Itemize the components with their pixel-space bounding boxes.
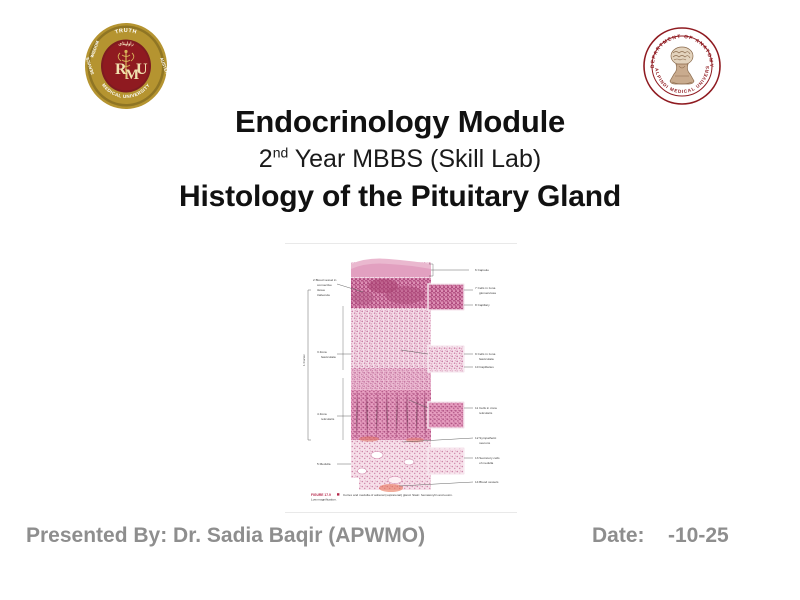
- presentation-slide: TRUTH MEDICAL UNIVERSITY WISDOM AUSTERIT…: [0, 0, 800, 600]
- figure-label-11b: reticularis: [479, 411, 493, 415]
- subtitle-ordinal-suffix: nd: [273, 144, 289, 160]
- figure-label-14: 14 Blood vessels: [475, 480, 499, 484]
- figure-caption-text-line1: Cortex and medulla of adrenal (suprarena…: [343, 493, 453, 497]
- subtitle-year-course: 2nd Year MBBS (Skill Lab): [0, 143, 800, 176]
- figure-label-13b: of medulla: [479, 461, 494, 465]
- figure-label-11: 11 Cells in zona: [475, 406, 497, 410]
- figure-label-2c: tissue: [317, 288, 325, 292]
- figure-label-7b: glomerulosa: [479, 291, 496, 295]
- figure-top-divider: [285, 243, 517, 244]
- subtitle-rest: Year MBBS (Skill Lab): [288, 145, 541, 173]
- figure-caption: FIGURE 17.9 Cortex and medulla of adrena…: [311, 493, 453, 502]
- figure-label-2b: connective: [317, 283, 332, 287]
- figure-label-9b: fasciculata: [479, 357, 494, 361]
- inset-zona-glomerulosa: [428, 284, 464, 310]
- figure-label-3: 3 Zona: [317, 350, 327, 354]
- figure-label-2d: trabecula: [317, 293, 330, 297]
- figure-caption-number: FIGURE 17.9: [311, 493, 331, 497]
- figure-label-10: 10 Capillaries: [475, 365, 494, 369]
- page-title: Endocrinology Module: [0, 104, 800, 141]
- slide-footer: Presented By: Dr. Sadia Baqir (APWMO) Da…: [0, 524, 800, 564]
- figure-label-6: 6 Capsule: [475, 268, 489, 272]
- date-value: -10-25: [668, 524, 729, 548]
- rawalpindi-medical-university-logo: TRUTH MEDICAL UNIVERSITY WISDOM AUSTERIT…: [84, 22, 168, 110]
- figure-label-12: 12 Sympathetic: [475, 436, 497, 440]
- inset-zona-fasciculata: [428, 346, 464, 372]
- subtitle-prefix: 2: [259, 145, 273, 173]
- rmu-logo-icon: TRUTH MEDICAL UNIVERSITY WISDOM AUSTERIT…: [84, 22, 168, 110]
- figure-label-4b: reticularis: [321, 417, 335, 421]
- anatomical-head-emblem: [670, 47, 694, 84]
- subtitle-topic: Histology of the Pituitary Gland: [0, 179, 800, 215]
- figure-label-12b: neurons: [479, 441, 491, 445]
- inset-zona-reticularis: [428, 402, 464, 428]
- figure-label-8: 8 Capillary: [475, 303, 490, 307]
- adrenal-gland-histology-figure: 1 Cortex 2 Blood vessel in connective ti…: [291, 250, 519, 502]
- anatomy-department-logo-icon: DEPARTMENT OF ANATOMY RAWALPINDI MEDICAL…: [638, 20, 726, 112]
- figure-label-9: 9 Cells in zona: [475, 352, 496, 356]
- figure-label-5: 5 Medulla: [317, 462, 331, 466]
- slide-title-block: Endocrinology Module 2nd Year MBBS (Skil…: [0, 104, 800, 215]
- figure-label-3b: fasciculata: [321, 355, 336, 359]
- figure-label-2: 2 Blood vessel in: [313, 278, 337, 282]
- figure-label-4: 4 Zona: [317, 412, 327, 416]
- figure-bottom-divider: [285, 512, 517, 513]
- figure-caption-text-line2: Low magnification.: [311, 498, 337, 502]
- presenter-text: Presented By: Dr. Sadia Baqir (APWMO): [26, 524, 425, 548]
- figure-label-cortex: 1 Cortex: [302, 354, 306, 366]
- tissue-section: [351, 259, 431, 492]
- figure-label-13: 13 Secretory cells: [475, 456, 500, 460]
- figure-label-7: 7 Cells in zona: [475, 286, 496, 290]
- histology-figure-image: 1 Cortex 2 Blood vessel in connective ti…: [291, 250, 519, 502]
- inset-medulla: [428, 448, 464, 474]
- figure-caption-bullet: [337, 493, 339, 495]
- svg-text:U: U: [136, 61, 148, 78]
- date-label: Date:: [592, 524, 645, 548]
- department-of-anatomy-logo: DEPARTMENT OF ANATOMY RAWALPINDI MEDICAL…: [638, 20, 726, 112]
